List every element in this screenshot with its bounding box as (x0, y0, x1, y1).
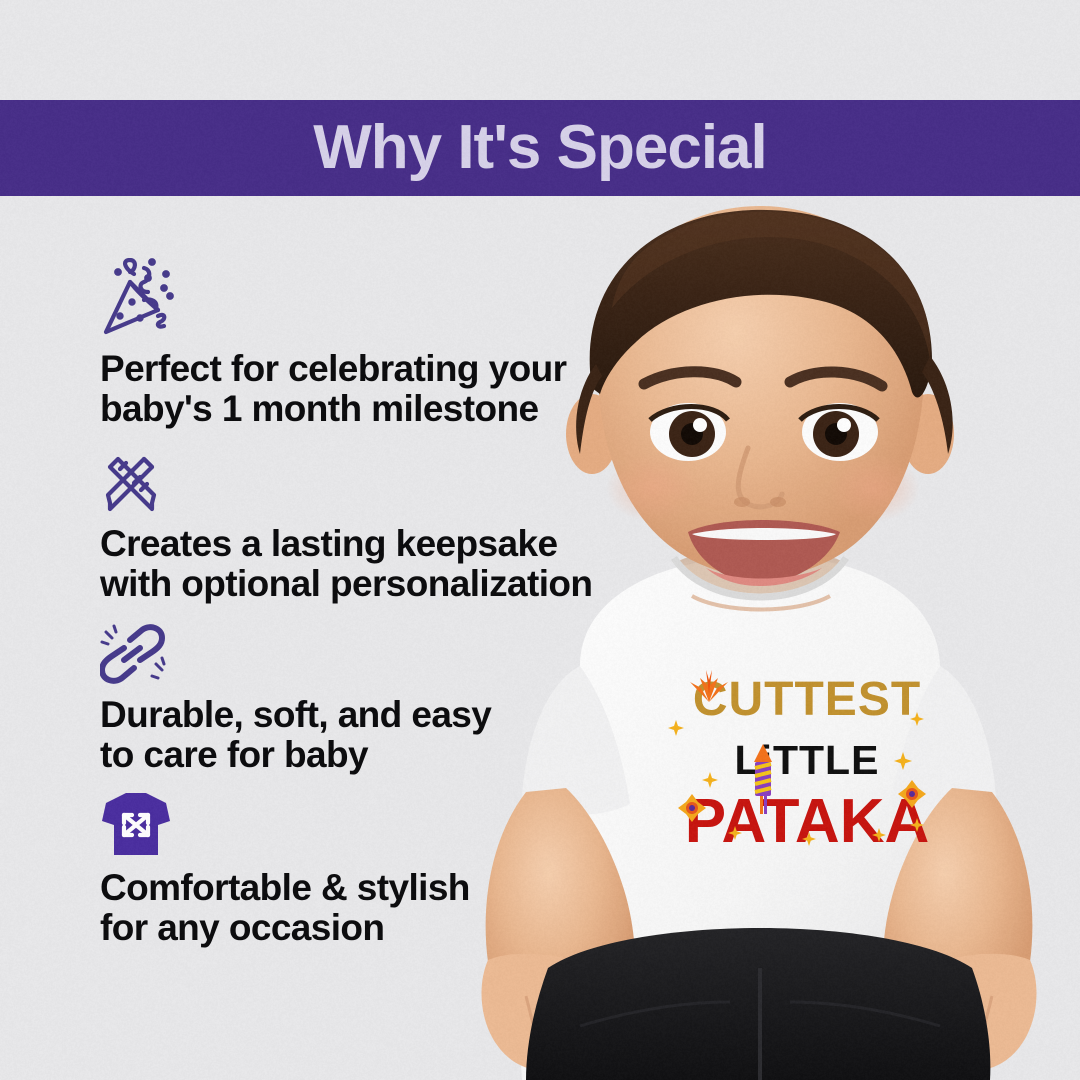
feature-label: Comfortable & stylish for any occasion (100, 868, 620, 948)
print-line-cuttest: CUTTEST (672, 676, 942, 724)
feature-label: Creates a lasting keepsake with optional… (100, 524, 620, 604)
feature-list: Perfect for celebrating your baby's 1 mo… (100, 258, 620, 948)
feature-label: Perfect for celebrating your baby's 1 mo… (100, 349, 620, 429)
feature-item-keepsake: Creates a lasting keepsake with optional… (100, 451, 620, 604)
chain-link-icon (100, 624, 620, 689)
header-banner: Why It's Special (0, 100, 1080, 196)
feature-item-durable: Durable, soft, and easy to care for baby (100, 624, 620, 775)
feature-item-comfortable: Comfortable & stylish for any occasion (100, 791, 620, 948)
tshirt-arrows-icon (100, 791, 620, 862)
ruler-pencil-icon (100, 451, 620, 518)
page-title: Why It's Special (313, 117, 767, 179)
print-line-pataka: PATAKA (672, 791, 942, 853)
print-line-little: LiTTLE (672, 740, 942, 781)
tshirt-print-graphic: CUTTEST LiTTLE PATAKA (672, 676, 942, 891)
feature-item-celebration: Perfect for celebrating your baby's 1 mo… (100, 258, 620, 429)
feature-label: Durable, soft, and easy to care for baby (100, 695, 620, 775)
party-popper-icon (100, 258, 620, 343)
baby-pants (526, 928, 990, 1080)
baby-head (566, 206, 954, 610)
